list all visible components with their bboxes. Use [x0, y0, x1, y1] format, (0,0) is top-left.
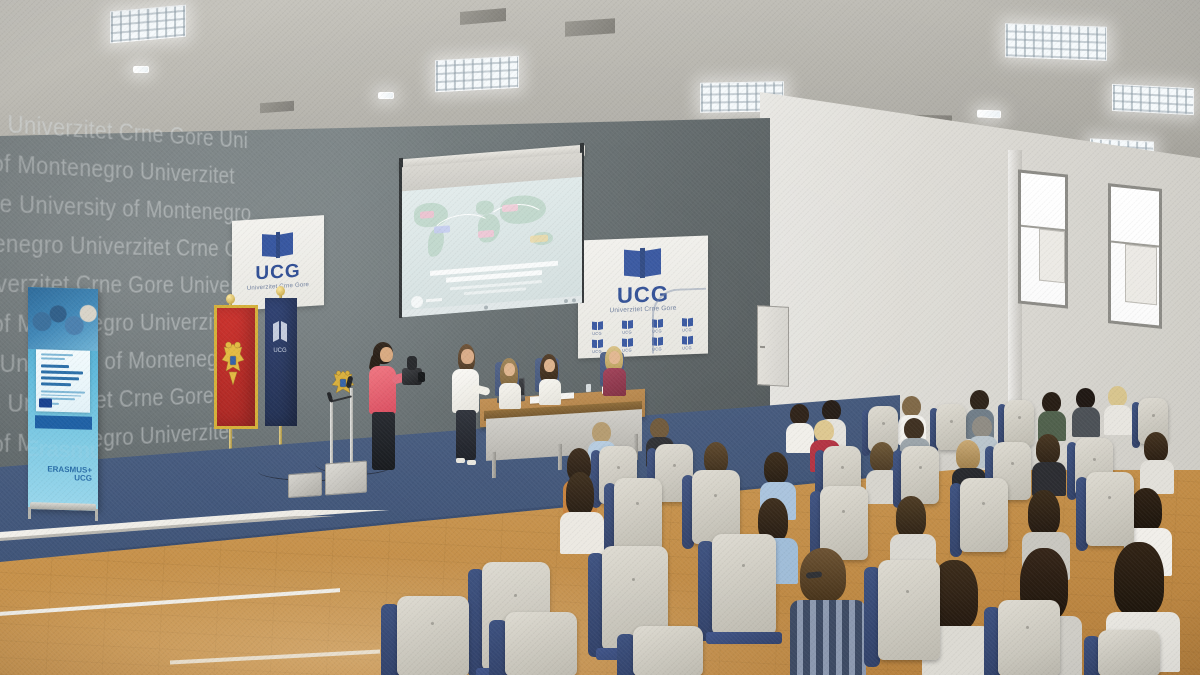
operator-shirt: [369, 366, 396, 414]
ceiling-light-tube: [378, 92, 394, 99]
microphone-stand: [350, 388, 353, 466]
ucg-sign-left: UCG Univerzitet Crne Gore: [232, 215, 324, 311]
map-label-pin: [434, 225, 450, 233]
window-right: [1108, 183, 1162, 329]
ucg-sub-logo: UCG: [616, 320, 638, 335]
banner-logo-block: ERASMUS+ UCG: [47, 466, 92, 483]
ceiling-light-tube: [133, 66, 149, 73]
flagpole-finial: [276, 286, 285, 296]
banner-watermark: Erasmus+: [28, 435, 98, 464]
eu-flag-icon: [39, 398, 52, 407]
ucg-sub-logo: UCG: [586, 321, 608, 336]
erasmus-logo-label: [426, 298, 442, 302]
stage-monitor-speaker: [288, 472, 322, 498]
flagpole-finial: [226, 294, 235, 304]
ceiling-light-panel: [435, 56, 519, 92]
map-label-pin: [502, 204, 518, 212]
stage-monitor-speaker: [325, 461, 367, 496]
presenter-head: [461, 349, 474, 364]
double-headed-eagle-icon: [220, 338, 246, 390]
water-glass-icon: [586, 384, 591, 392]
banner-photo-image: [28, 287, 98, 351]
ceiling-light-panel: [110, 5, 186, 44]
erasmus-rollup-banner: Erasmus+ ERASMUS+ UCG: [28, 287, 98, 511]
ceiling-light-panel: [1005, 23, 1107, 61]
slide-control-dot[interactable]: [484, 305, 488, 309]
auditorium-photo: negro Univerzitet Crne Gore Uni rsity of…: [0, 0, 1200, 675]
panelist-head: [504, 363, 515, 376]
operator-trousers: [372, 412, 395, 470]
slide-control-dot[interactable]: [564, 298, 568, 302]
panelist-torso: [539, 379, 561, 405]
presenter-shoe: [456, 458, 465, 463]
window-left: [1018, 169, 1068, 308]
ucg-sign-right: UCG Univerzitet Crne Gore UCG UCG UCG: [578, 236, 708, 359]
panelist-head: [609, 351, 620, 364]
ucg-book-icon: [262, 231, 294, 259]
presentation-slide: [402, 177, 582, 317]
presenter-trousers: [456, 410, 476, 460]
montenegro-coat-of-arms-icon: [329, 368, 357, 396]
panelist-torso: [499, 383, 521, 409]
banner-leg: [28, 507, 31, 519]
camera-viewfinder-icon: [407, 356, 417, 370]
camera-lens-icon: [418, 372, 425, 382]
operator-head: [380, 347, 393, 362]
ceiling-light-tube: [977, 110, 1001, 119]
microphone-stand: [330, 398, 333, 470]
map-label-pin: [530, 234, 548, 242]
ucg-book-icon: UCG: [272, 318, 288, 360]
svg-text:UCG: UCG: [273, 348, 287, 354]
panelist-torso: [603, 368, 626, 396]
panelist-head: [544, 359, 555, 372]
slide-control-dot[interactable]: [572, 298, 576, 302]
panel-decorative-arc: [652, 288, 706, 354]
door-handle-icon[interactable]: [760, 346, 765, 348]
map-label-pin: [420, 211, 434, 219]
banner-blue-bar: [35, 415, 92, 430]
presenter-shoe: [467, 460, 476, 465]
ucg-book-icon: [624, 247, 662, 278]
ceiling-light-panel: [1112, 84, 1194, 115]
erasmus-logo-icon: [411, 296, 423, 309]
map-label-pin: [478, 230, 494, 238]
table-leg: [492, 452, 496, 478]
table-leg: [558, 444, 562, 470]
banner-leg: [95, 509, 98, 521]
